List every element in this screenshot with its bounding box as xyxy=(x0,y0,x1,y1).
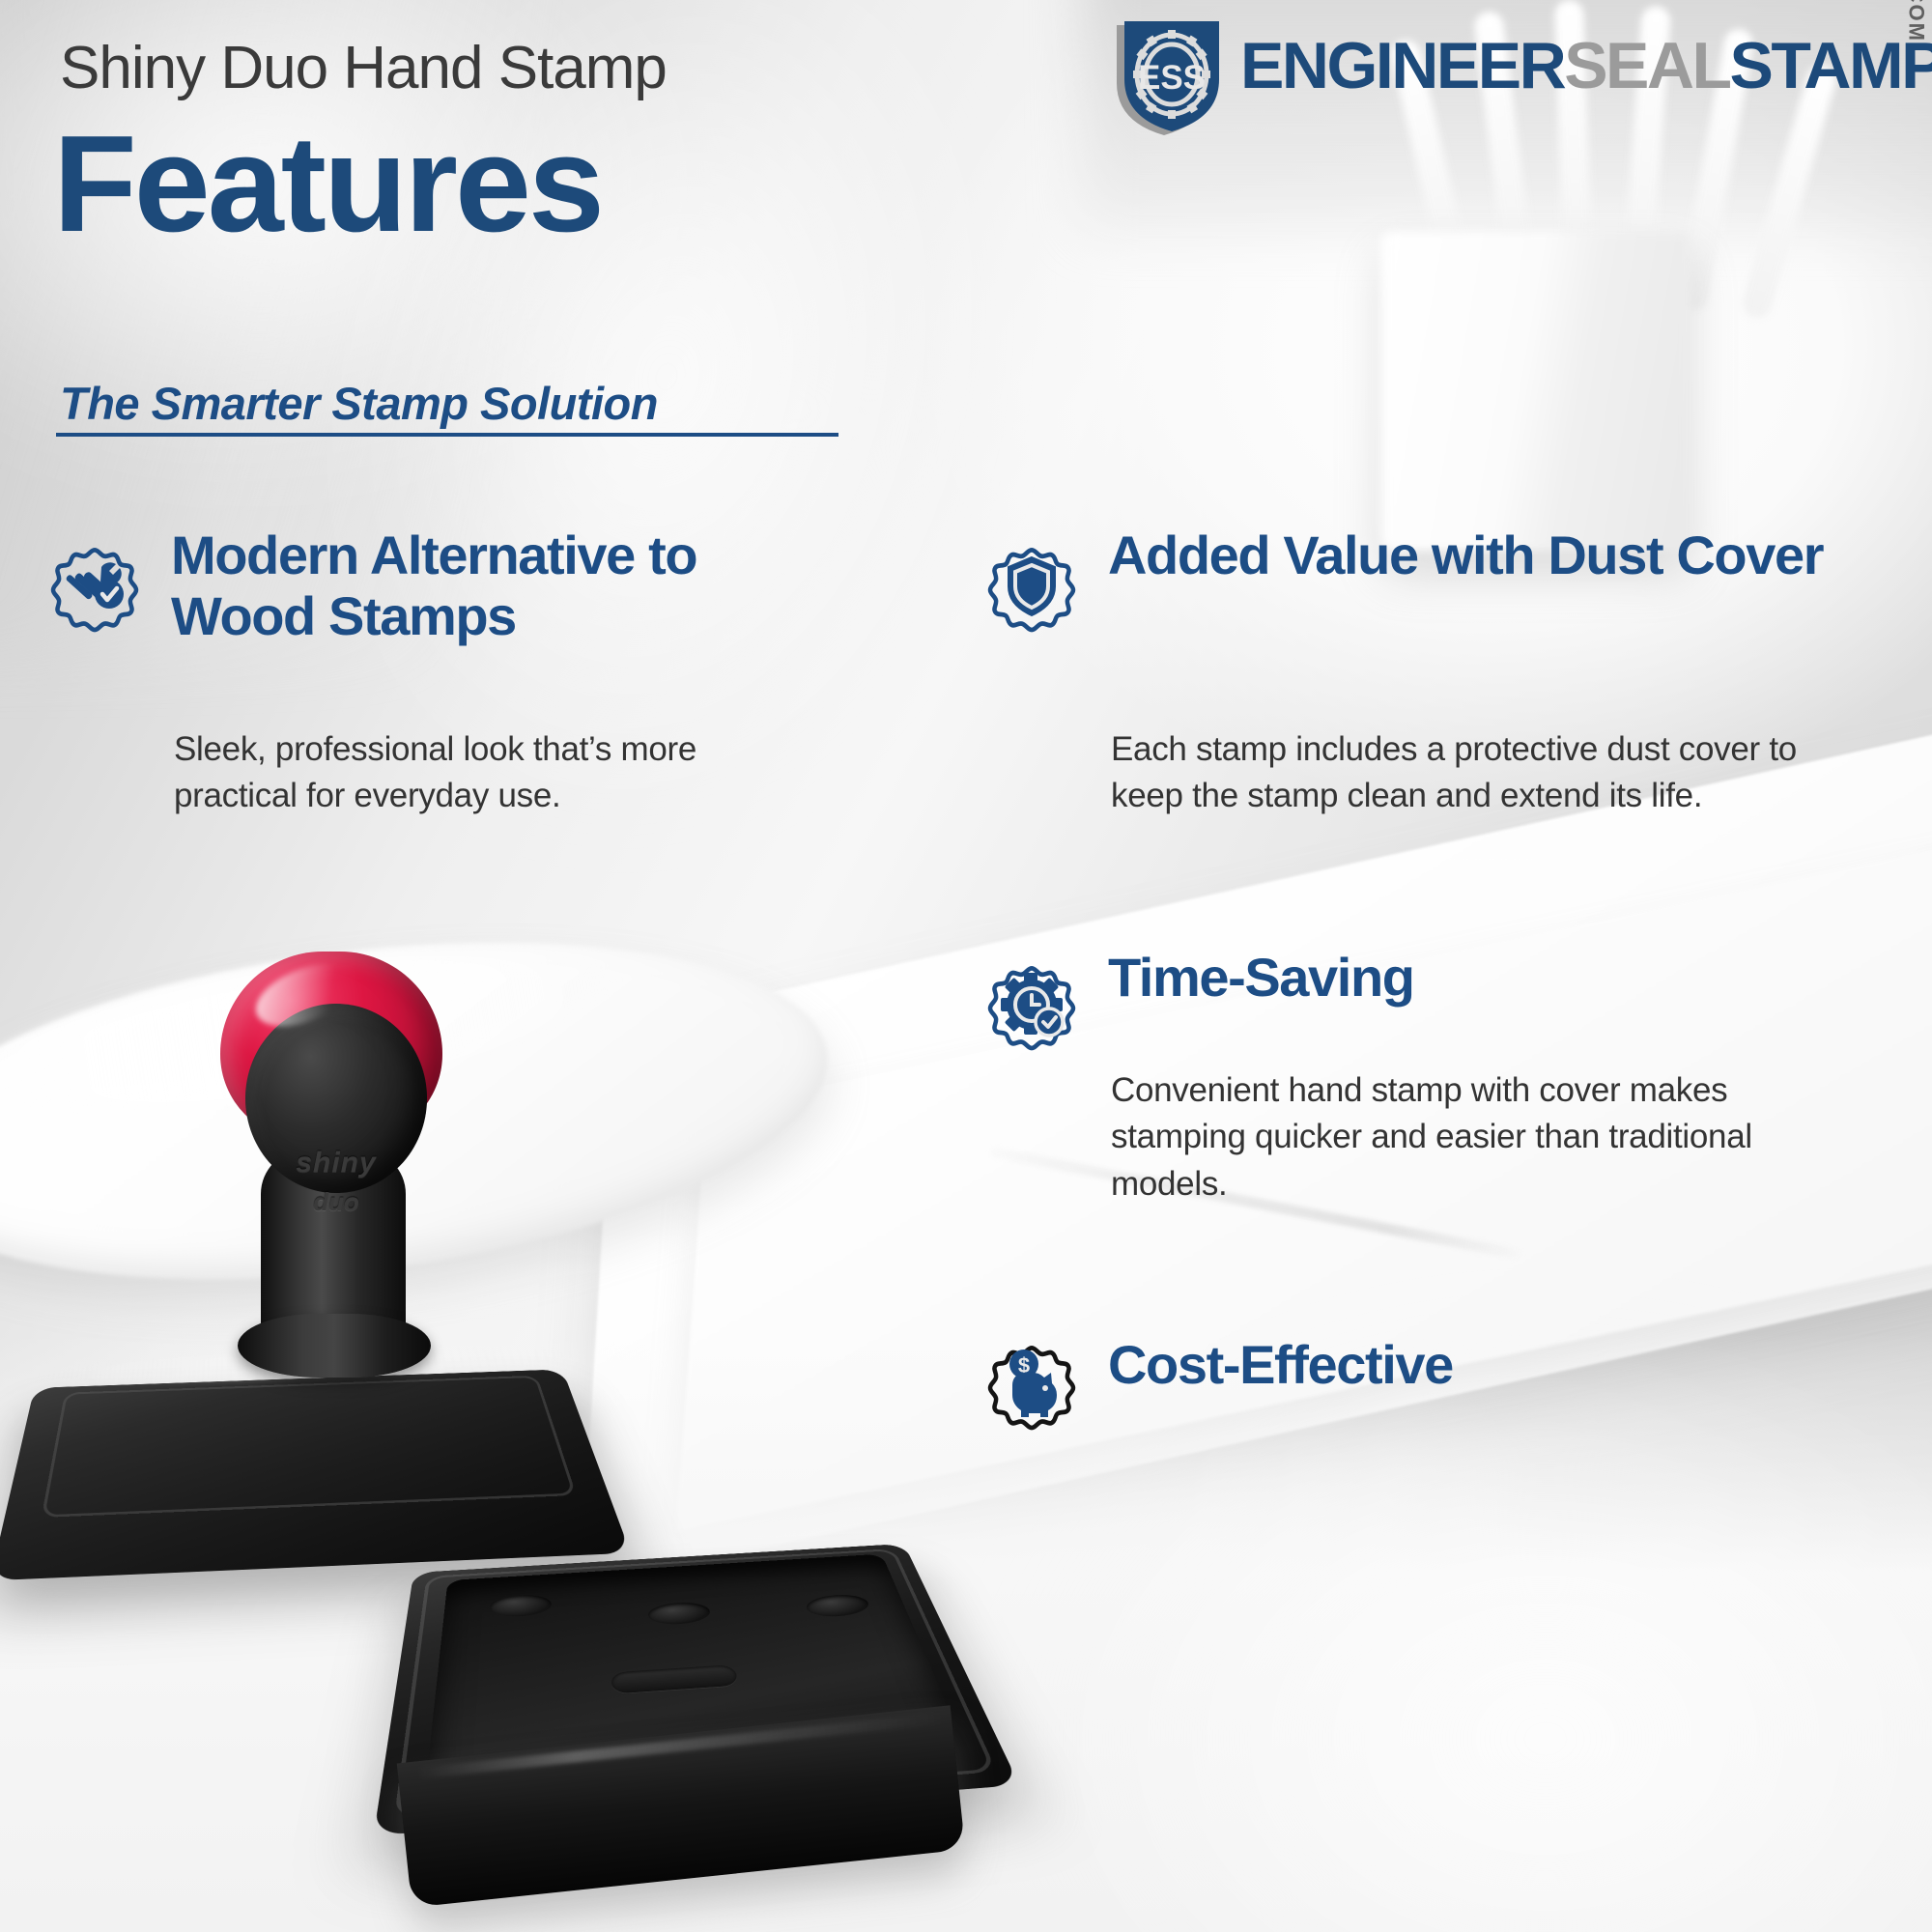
product-kicker: Shiny Duo Hand Stamp xyxy=(60,34,667,102)
feature-heading: Modern Alternative to Wood Stamps xyxy=(171,526,775,646)
brand-word-stamps: STAMPS xyxy=(1730,29,1932,102)
gear-clock-check-badge-icon xyxy=(978,952,1086,1060)
tagline: The Smarter Stamp Solution xyxy=(60,377,658,430)
shield-badge-icon xyxy=(978,533,1086,641)
feature-body: Convenient hand stamp with cover makes s… xyxy=(1111,1067,1816,1207)
svg-text:ESS: ESS xyxy=(1138,59,1206,97)
feature-heading: Cost-Effective xyxy=(1108,1335,1453,1396)
brand-wordmark: ENGINEERSEALSTAMPS xyxy=(1240,33,1932,99)
brand-logo[interactable]: ESS ENGINEERSEALSTAMPS .COM xyxy=(1103,14,1924,144)
brand-tld: .COM xyxy=(1903,0,1928,43)
ess-shield-icon: ESS xyxy=(1103,17,1229,139)
feature-body: Sleek, professional look that’s more pra… xyxy=(174,726,773,820)
feature-body: Each stamp includes a protective dust co… xyxy=(1111,726,1806,820)
brand-word-engineer: ENGINEER xyxy=(1240,29,1564,102)
feature-heading: Added Value with Dust Cover xyxy=(1108,526,1823,586)
brand-word-seal: SEAL xyxy=(1564,29,1729,102)
stamp-tool-check-badge-icon xyxy=(41,533,149,641)
feature-heading: Time-Saving xyxy=(1108,948,1414,1009)
piggy-bank-badge-icon: $ xyxy=(978,1331,1086,1439)
tagline-underline xyxy=(56,433,838,437)
page-title: Features xyxy=(53,116,602,253)
